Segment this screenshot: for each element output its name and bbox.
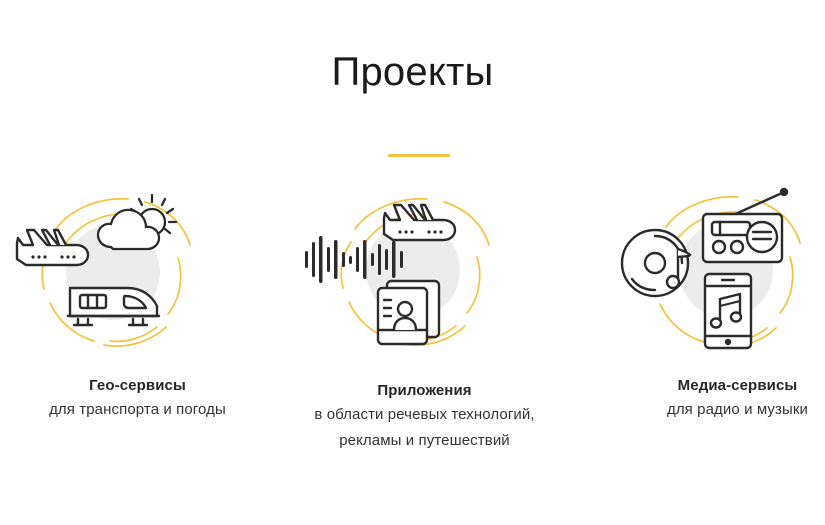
page-title: Проекты	[0, 48, 825, 96]
radio-icon	[703, 189, 787, 262]
media-services-title: Медиа-сервисы	[600, 375, 825, 397]
geo-services-illustration	[0, 185, 275, 360]
vinyl-disc-music-icon	[622, 230, 690, 296]
sun-cloud-icon	[98, 195, 176, 249]
project-card-geo-services[interactable]: Гео-сервисы для транспорта и погоды	[0, 185, 275, 485]
id-cards-icon	[378, 281, 439, 344]
geo-services-subtitle-line-1: для транспорта и погоды	[0, 397, 275, 423]
media-services-subtitle: для радио и музыки	[600, 397, 825, 423]
media-services-subtitle-line-1: для радио и музыки	[600, 397, 825, 423]
geo-services-title: Гео-сервисы	[0, 375, 275, 397]
applications-subtitle: в области речевых технологий, рекламы и …	[287, 402, 562, 454]
title-divider	[388, 154, 450, 157]
media-services-caption: Медиа-сервисы для радио и музыки	[600, 375, 825, 423]
projects-columns: Гео-сервисы для транспорта и погоды	[0, 185, 825, 485]
geo-services-subtitle: для транспорта и погоды	[0, 397, 275, 423]
project-card-applications[interactable]: Приложения в области речевых технологий,…	[287, 185, 562, 485]
airplane-icon	[384, 205, 455, 240]
applications-subtitle-line-1: в области речевых технологий,	[287, 402, 562, 428]
applications-title: Приложения	[287, 380, 562, 402]
airplane-icon	[17, 230, 88, 265]
applications-illustration	[287, 185, 562, 360]
projects-section: Проекты	[0, 0, 825, 525]
smartphone-music-icon	[705, 274, 751, 348]
applications-subtitle-line-2: рекламы и путешествий	[287, 428, 562, 454]
media-services-illustration	[600, 185, 825, 360]
applications-caption: Приложения в области речевых технологий,…	[287, 380, 562, 454]
geo-services-caption: Гео-сервисы для транспорта и погоды	[0, 375, 275, 423]
project-card-media-services[interactable]: Медиа-сервисы для радио и музыки	[600, 185, 825, 485]
